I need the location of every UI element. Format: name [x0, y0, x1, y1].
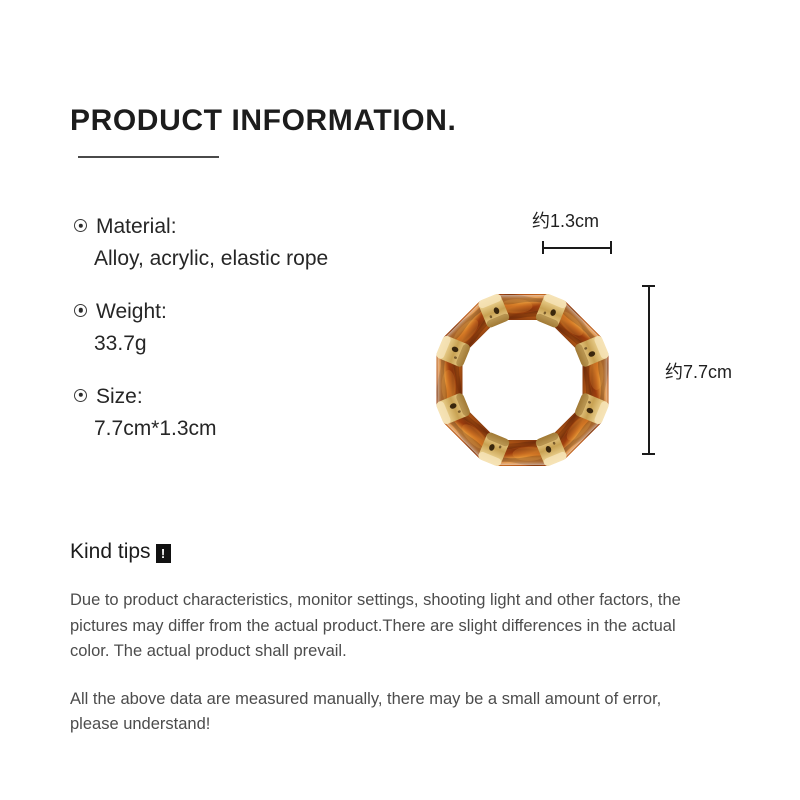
spec-value: Alloy, acrylic, elastic rope [74, 244, 404, 274]
product-image-bracelet [420, 276, 625, 484]
bullet-dot-icon [74, 304, 87, 317]
kind-tips-label: Kind tips [70, 540, 151, 564]
spec-value: 7.7cm*1.3cm [74, 414, 404, 444]
spec-list: Material: Alloy, acrylic, elastic rope W… [74, 213, 404, 467]
spec-value: 33.7g [74, 329, 404, 359]
height-dimension-label: 约7.7cm [665, 358, 732, 384]
title-divider [78, 156, 219, 158]
width-dimension-line [542, 247, 612, 249]
bullet-dot-icon [74, 219, 87, 232]
bullet-dot-icon [74, 389, 87, 402]
kind-tips-heading: Kind tips ! [70, 540, 171, 564]
spec-item-material: Material: Alloy, acrylic, elastic rope [74, 213, 404, 275]
spec-item-weight: Weight: 33.7g [74, 298, 404, 360]
kind-tips-body: Due to product characteristics, monitor … [70, 588, 705, 760]
spec-item-size: Size: 7.7cm*1.3cm [74, 383, 404, 445]
warning-exclamation-icon: ! [156, 544, 171, 563]
spec-label: Material: [96, 213, 177, 241]
spec-label: Size: [96, 383, 143, 411]
height-dimension-line [648, 285, 650, 455]
product-figure: 约1.3cm 约7.7cm [410, 196, 770, 496]
spec-label: Weight: [96, 298, 167, 326]
tips-paragraph: Due to product characteristics, monitor … [70, 588, 705, 665]
tips-paragraph: All the above data are measured manually… [70, 687, 705, 738]
width-dimension-label: 约1.3cm [532, 207, 599, 233]
page-title: PRODUCT INFORMATION. [70, 104, 456, 138]
bracelet-illustration [420, 276, 625, 484]
